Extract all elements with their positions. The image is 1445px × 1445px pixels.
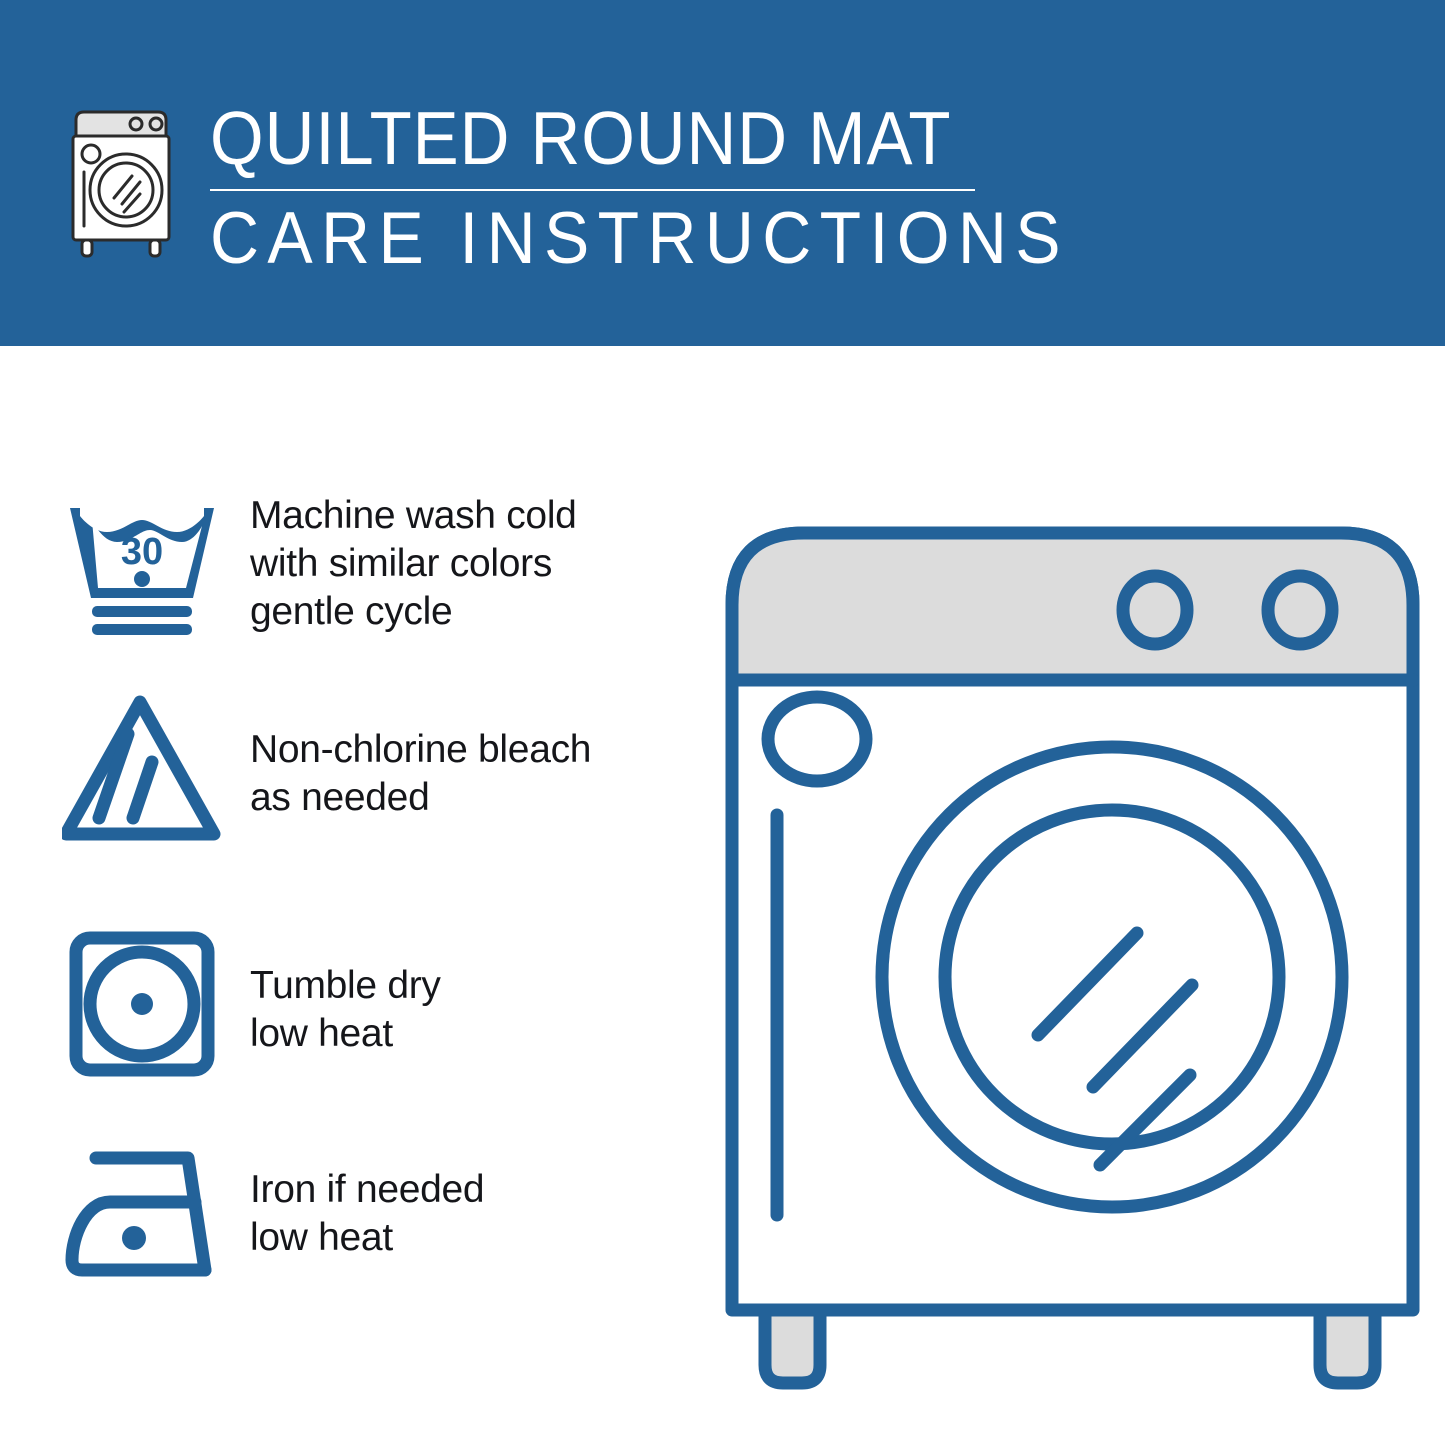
iron-low-heat-icon: [62, 1136, 242, 1296]
header-title-group: QUILTED ROUND MAT CARE INSTRUCTIONS: [210, 98, 1134, 278]
care-item-label: Non-chlorine bleach as needed: [250, 694, 591, 822]
machine-leg-right: [1320, 1310, 1375, 1383]
care-item-label: Machine wash cold with similar colors ge…: [250, 486, 577, 636]
front-load-washing-machine-illustration: [700, 455, 1445, 1405]
header-content: QUILTED ROUND MAT CARE INSTRUCTIONS: [64, 98, 1134, 278]
tumble-dry-low-heat-icon: [62, 924, 242, 1084]
title-divider: [210, 189, 975, 191]
page-subtitle: CARE INSTRUCTIONS: [210, 200, 1069, 278]
care-item-iron: Iron if needed low heat: [62, 1136, 702, 1296]
header-band: QUILTED ROUND MAT CARE INSTRUCTIONS: [0, 0, 1445, 346]
care-item-machine-wash: 30 Machine wash cold with similar colors…: [62, 486, 702, 646]
care-item-label: Iron if needed low heat: [250, 1136, 484, 1262]
svg-text:30: 30: [121, 531, 163, 573]
care-instructions-page: QUILTED ROUND MAT CARE INSTRUCTIONS 30: [0, 0, 1445, 1445]
page-title: QUILTED ROUND MAT: [210, 98, 1060, 178]
care-instruction-list: 30 Machine wash cold with similar colors…: [0, 346, 700, 1445]
care-item-tumble-dry: Tumble dry low heat: [62, 924, 702, 1084]
care-item-bleach: Non-chlorine bleach as needed: [62, 694, 702, 854]
wash-tub-30-gentle-icon: 30: [62, 486, 242, 646]
washing-machine-icon: [64, 102, 186, 254]
care-item-label: Tumble dry low heat: [250, 924, 441, 1058]
machine-leg-left: [765, 1310, 820, 1383]
non-chlorine-bleach-triangle-icon: [62, 694, 242, 854]
machine-control-panel: [732, 533, 1413, 680]
